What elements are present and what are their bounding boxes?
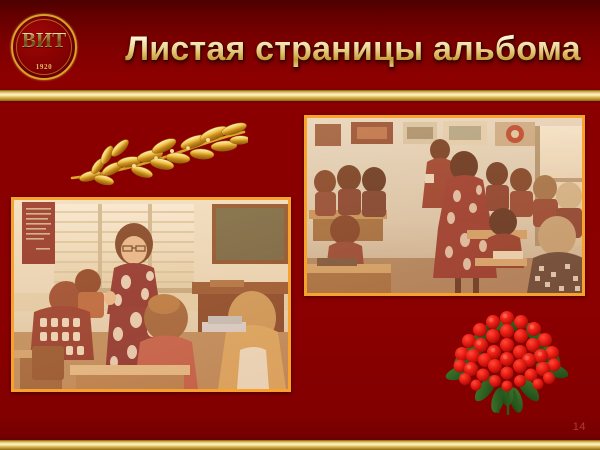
laurel-branch-icon [68,118,248,188]
classroom-photo-left[interactable] [11,197,291,392]
logo-monogram: ВИТ [13,30,75,51]
logo-year: 1920 [13,63,75,71]
classroom-photo-top-right[interactable] [304,115,585,296]
slide-canvas: ВИТ 1920 Листая страницы альбома [0,0,600,450]
page-number: 14 [573,421,586,433]
vit-logo: ВИТ 1920 [11,14,77,80]
red-roses-bouquet [440,296,575,416]
gold-divider-bottom [0,440,600,450]
page-title: Листая страницы альбома [118,24,588,74]
slide-header: ВИТ 1920 Листая страницы альбома [0,0,600,90]
gold-divider-top [0,90,600,101]
